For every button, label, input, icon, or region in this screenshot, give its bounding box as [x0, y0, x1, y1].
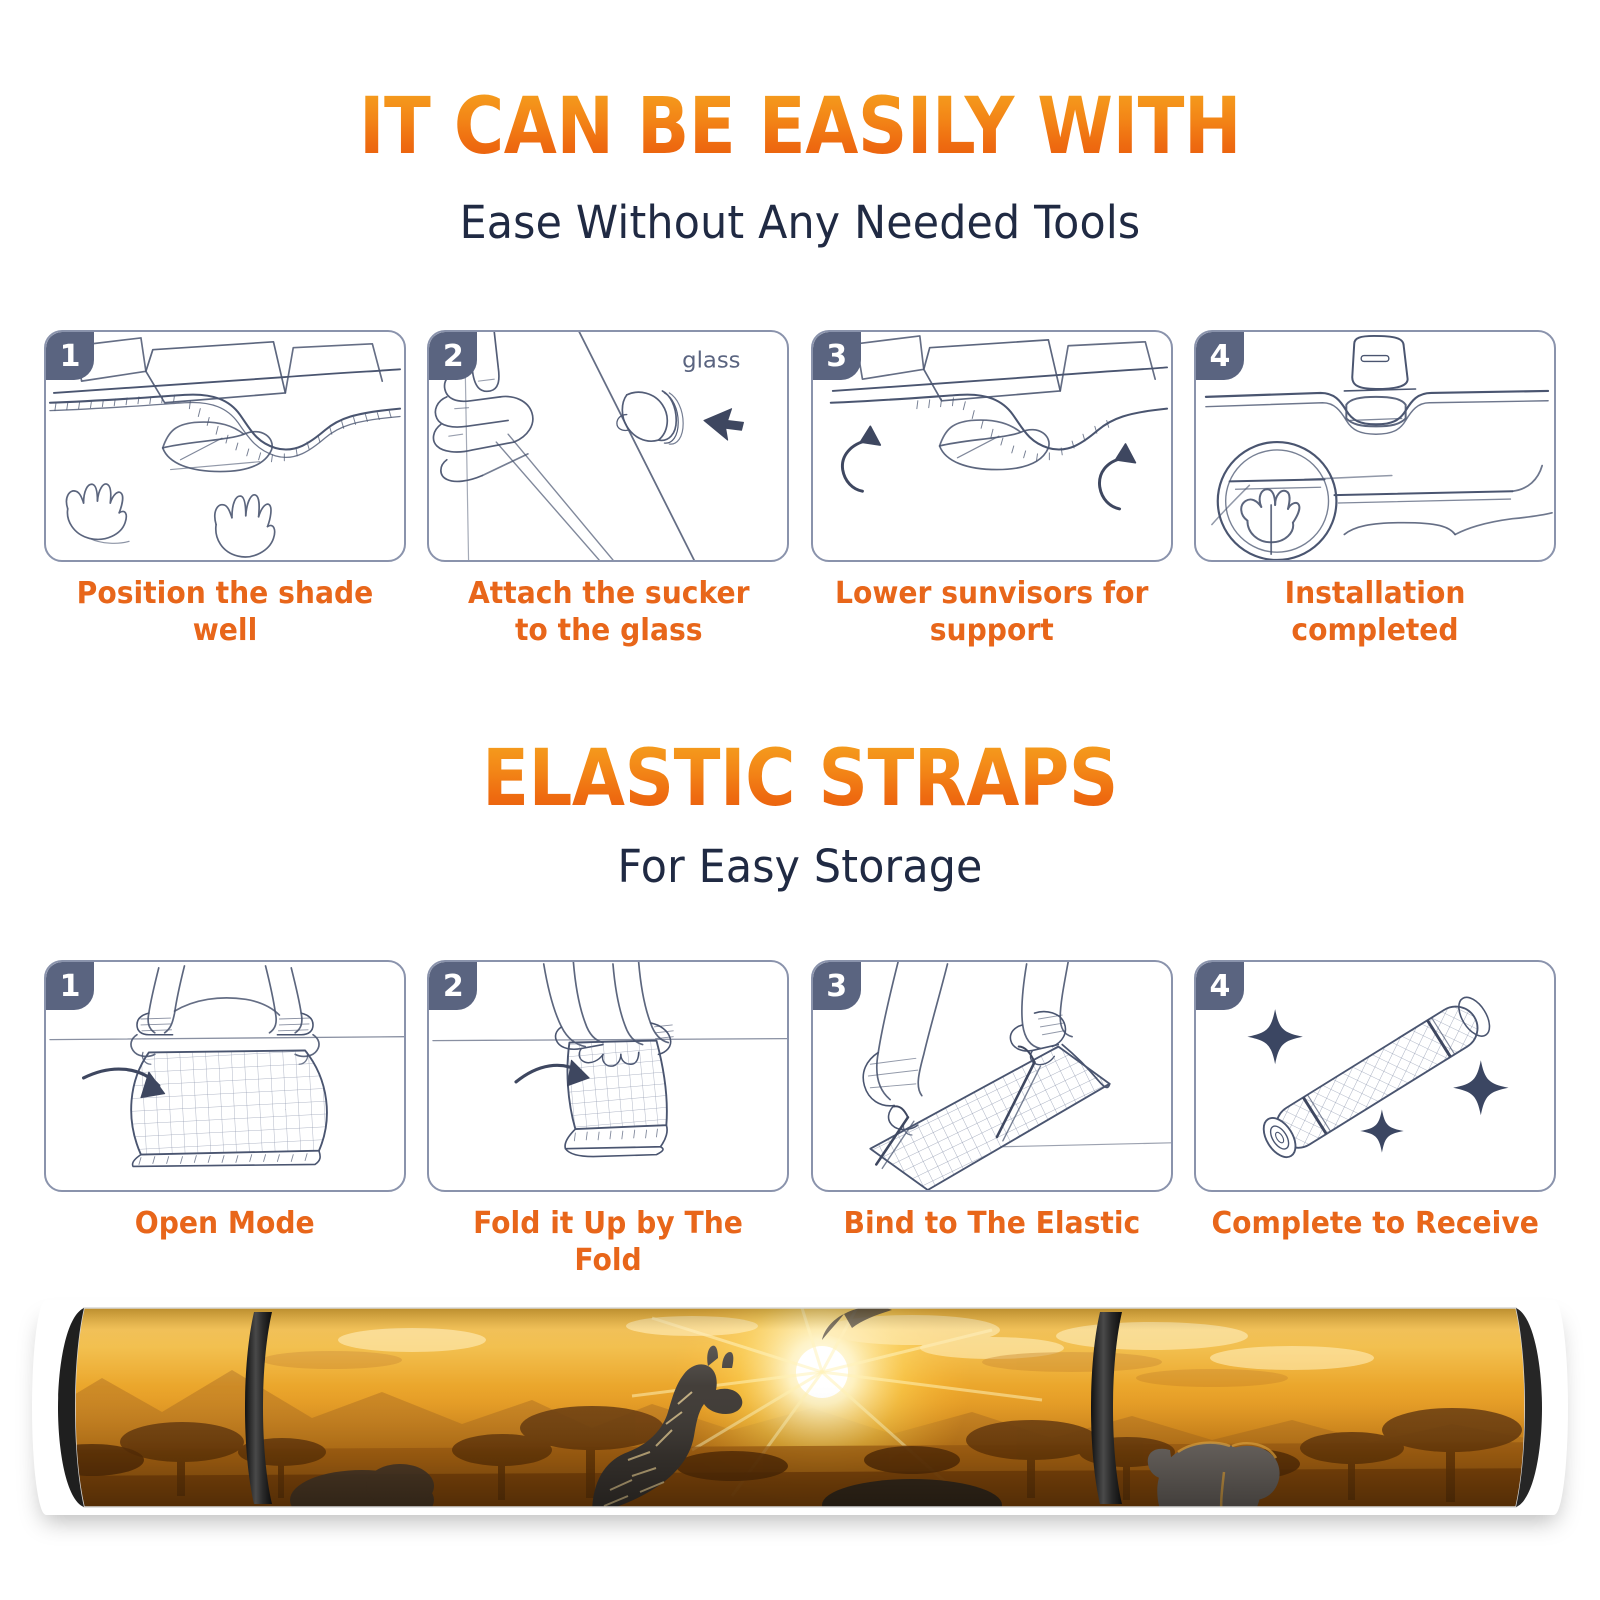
storage-step-4-card[interactable]: 4: [1194, 960, 1556, 1192]
storage-section-heading: ELASTIC STRAPS: [0, 740, 1600, 820]
storage-step-3[interactable]: 3: [811, 960, 1173, 1279]
storage-step-1[interactable]: 1: [44, 960, 406, 1279]
step-number-badge: 1: [46, 332, 94, 380]
install-step-4-card[interactable]: 4: [1194, 330, 1556, 562]
rolled-shade-sparkles-icon: [1196, 962, 1554, 1190]
installation-title: IT CAN BE EASILY WITH: [96, 88, 1504, 168]
hands-folding-shade-icon: [429, 962, 787, 1190]
step-number-badge: 2: [429, 962, 477, 1010]
install-step-3[interactable]: 3: [811, 330, 1173, 649]
install-step-2[interactable]: 2: [427, 330, 789, 649]
savanna-sunset-print: [32, 1300, 1568, 1515]
install-step-1-caption: Position the shade well: [55, 576, 395, 649]
install-step-4-caption: Installation completed: [1205, 576, 1545, 649]
windshield-sunvisors-arrows-icon: [813, 332, 1171, 560]
storage-step-1-card[interactable]: 1: [44, 960, 406, 1192]
install-step-2-card[interactable]: 2: [427, 330, 789, 562]
step-number-badge: 4: [1196, 332, 1244, 380]
step-number-badge: 2: [429, 332, 477, 380]
installation-subtitle: Ease Without Any Needed Tools: [40, 196, 1560, 249]
install-step-4[interactable]: 4: [1194, 330, 1556, 649]
storage-subtitle: For Easy Storage: [40, 840, 1560, 893]
hands-binding-elastic-icon: [813, 962, 1171, 1190]
car-interior-steering-wheel-icon: [1196, 332, 1554, 560]
storage-step-2-caption: Fold it Up by The Fold: [438, 1206, 778, 1279]
storage-steps-row: 1: [44, 960, 1556, 1279]
install-step-2-caption: Attach the sucker to the glass: [468, 576, 750, 649]
installation-subtitle-wrap: Ease Without Any Needed Tools: [0, 196, 1600, 249]
hand-suction-cup-glass-icon: glass: [429, 332, 787, 560]
storage-subtitle-wrap: For Easy Storage: [0, 840, 1600, 893]
product-photo: [32, 1300, 1568, 1515]
installation-steps-row: 1: [44, 330, 1556, 649]
step-number-badge: 1: [46, 962, 94, 1010]
storage-step-4[interactable]: 4: [1194, 960, 1556, 1279]
glass-label: glass: [682, 347, 740, 373]
storage-step-3-caption: Bind to The Elastic: [843, 1206, 1140, 1243]
step-number-badge: 4: [1196, 962, 1244, 1010]
install-step-3-caption: Lower sunvisors for support: [835, 576, 1148, 649]
step-number-badge: 3: [813, 332, 861, 380]
hands-open-shade-icon: [46, 962, 404, 1190]
car-windshield-hands-icon: [46, 332, 404, 560]
storage-step-4-caption: Complete to Receive: [1211, 1206, 1538, 1243]
rolled-sunshade-image: [32, 1300, 1568, 1515]
install-step-3-card[interactable]: 3: [811, 330, 1173, 562]
install-step-1[interactable]: 1: [44, 330, 406, 649]
install-step-1-card[interactable]: 1: [44, 330, 406, 562]
step-number-badge: 3: [813, 962, 861, 1010]
storage-step-1-caption: Open Mode: [135, 1206, 315, 1243]
storage-step-2[interactable]: 2: [427, 960, 789, 1279]
storage-step-2-card[interactable]: 2: [427, 960, 789, 1192]
storage-step-3-card[interactable]: 3: [811, 960, 1173, 1192]
installation-section-heading: IT CAN BE EASILY WITH: [0, 88, 1600, 168]
storage-title: ELASTIC STRAPS: [96, 740, 1504, 820]
